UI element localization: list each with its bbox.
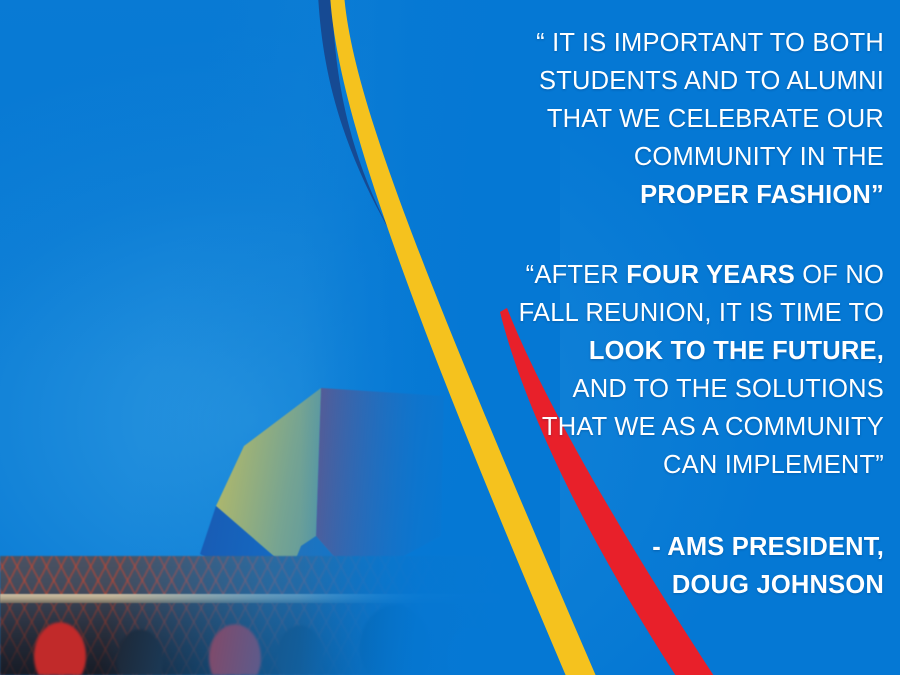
quote-1-line-4: COMMUNITY IN THE [492,138,884,176]
quote-2-line-4: AND TO THE SOLUTIONS [492,370,884,408]
quote-gap-2 [492,484,884,528]
attribution-line-2: DOUG JOHNSON [492,566,884,604]
quote-2-line-3: LOOK TO THE FUTURE, [492,332,884,370]
quote-2-line-5: THAT WE AS A COMMUNITY [492,408,884,446]
quote-block-1: “ IT IS IMPORTANT TO BOTH STUDENTS AND T… [492,24,884,214]
quote-1-line-5: PROPER FASHION” [492,176,884,214]
quote-column: “ IT IS IMPORTANT TO BOTH STUDENTS AND T… [492,0,884,675]
quote-block-2: “AFTER FOUR YEARS OF NO FALL REUNION, IT… [492,256,884,484]
quote-2-line-1: “AFTER FOUR YEARS OF NO [492,256,884,294]
quote-1-line-3: THAT WE CELEBRATE OUR [492,100,884,138]
quote-2-line-6: CAN IMPLEMENT” [492,446,884,484]
attribution-line-1: - AMS PRESIDENT, [492,528,884,566]
quote-1-line-2: STUDENTS AND TO ALUMNI [492,62,884,100]
quote-2-line-2: FALL REUNION, IT IS TIME TO [492,294,884,332]
poster-canvas: “ IT IS IMPORTANT TO BOTH STUDENTS AND T… [0,0,900,675]
attribution-block: - AMS PRESIDENT, DOUG JOHNSON [492,528,884,604]
quote-gap-1 [492,214,884,256]
quote-1-line-1: “ IT IS IMPORTANT TO BOTH [492,24,884,62]
